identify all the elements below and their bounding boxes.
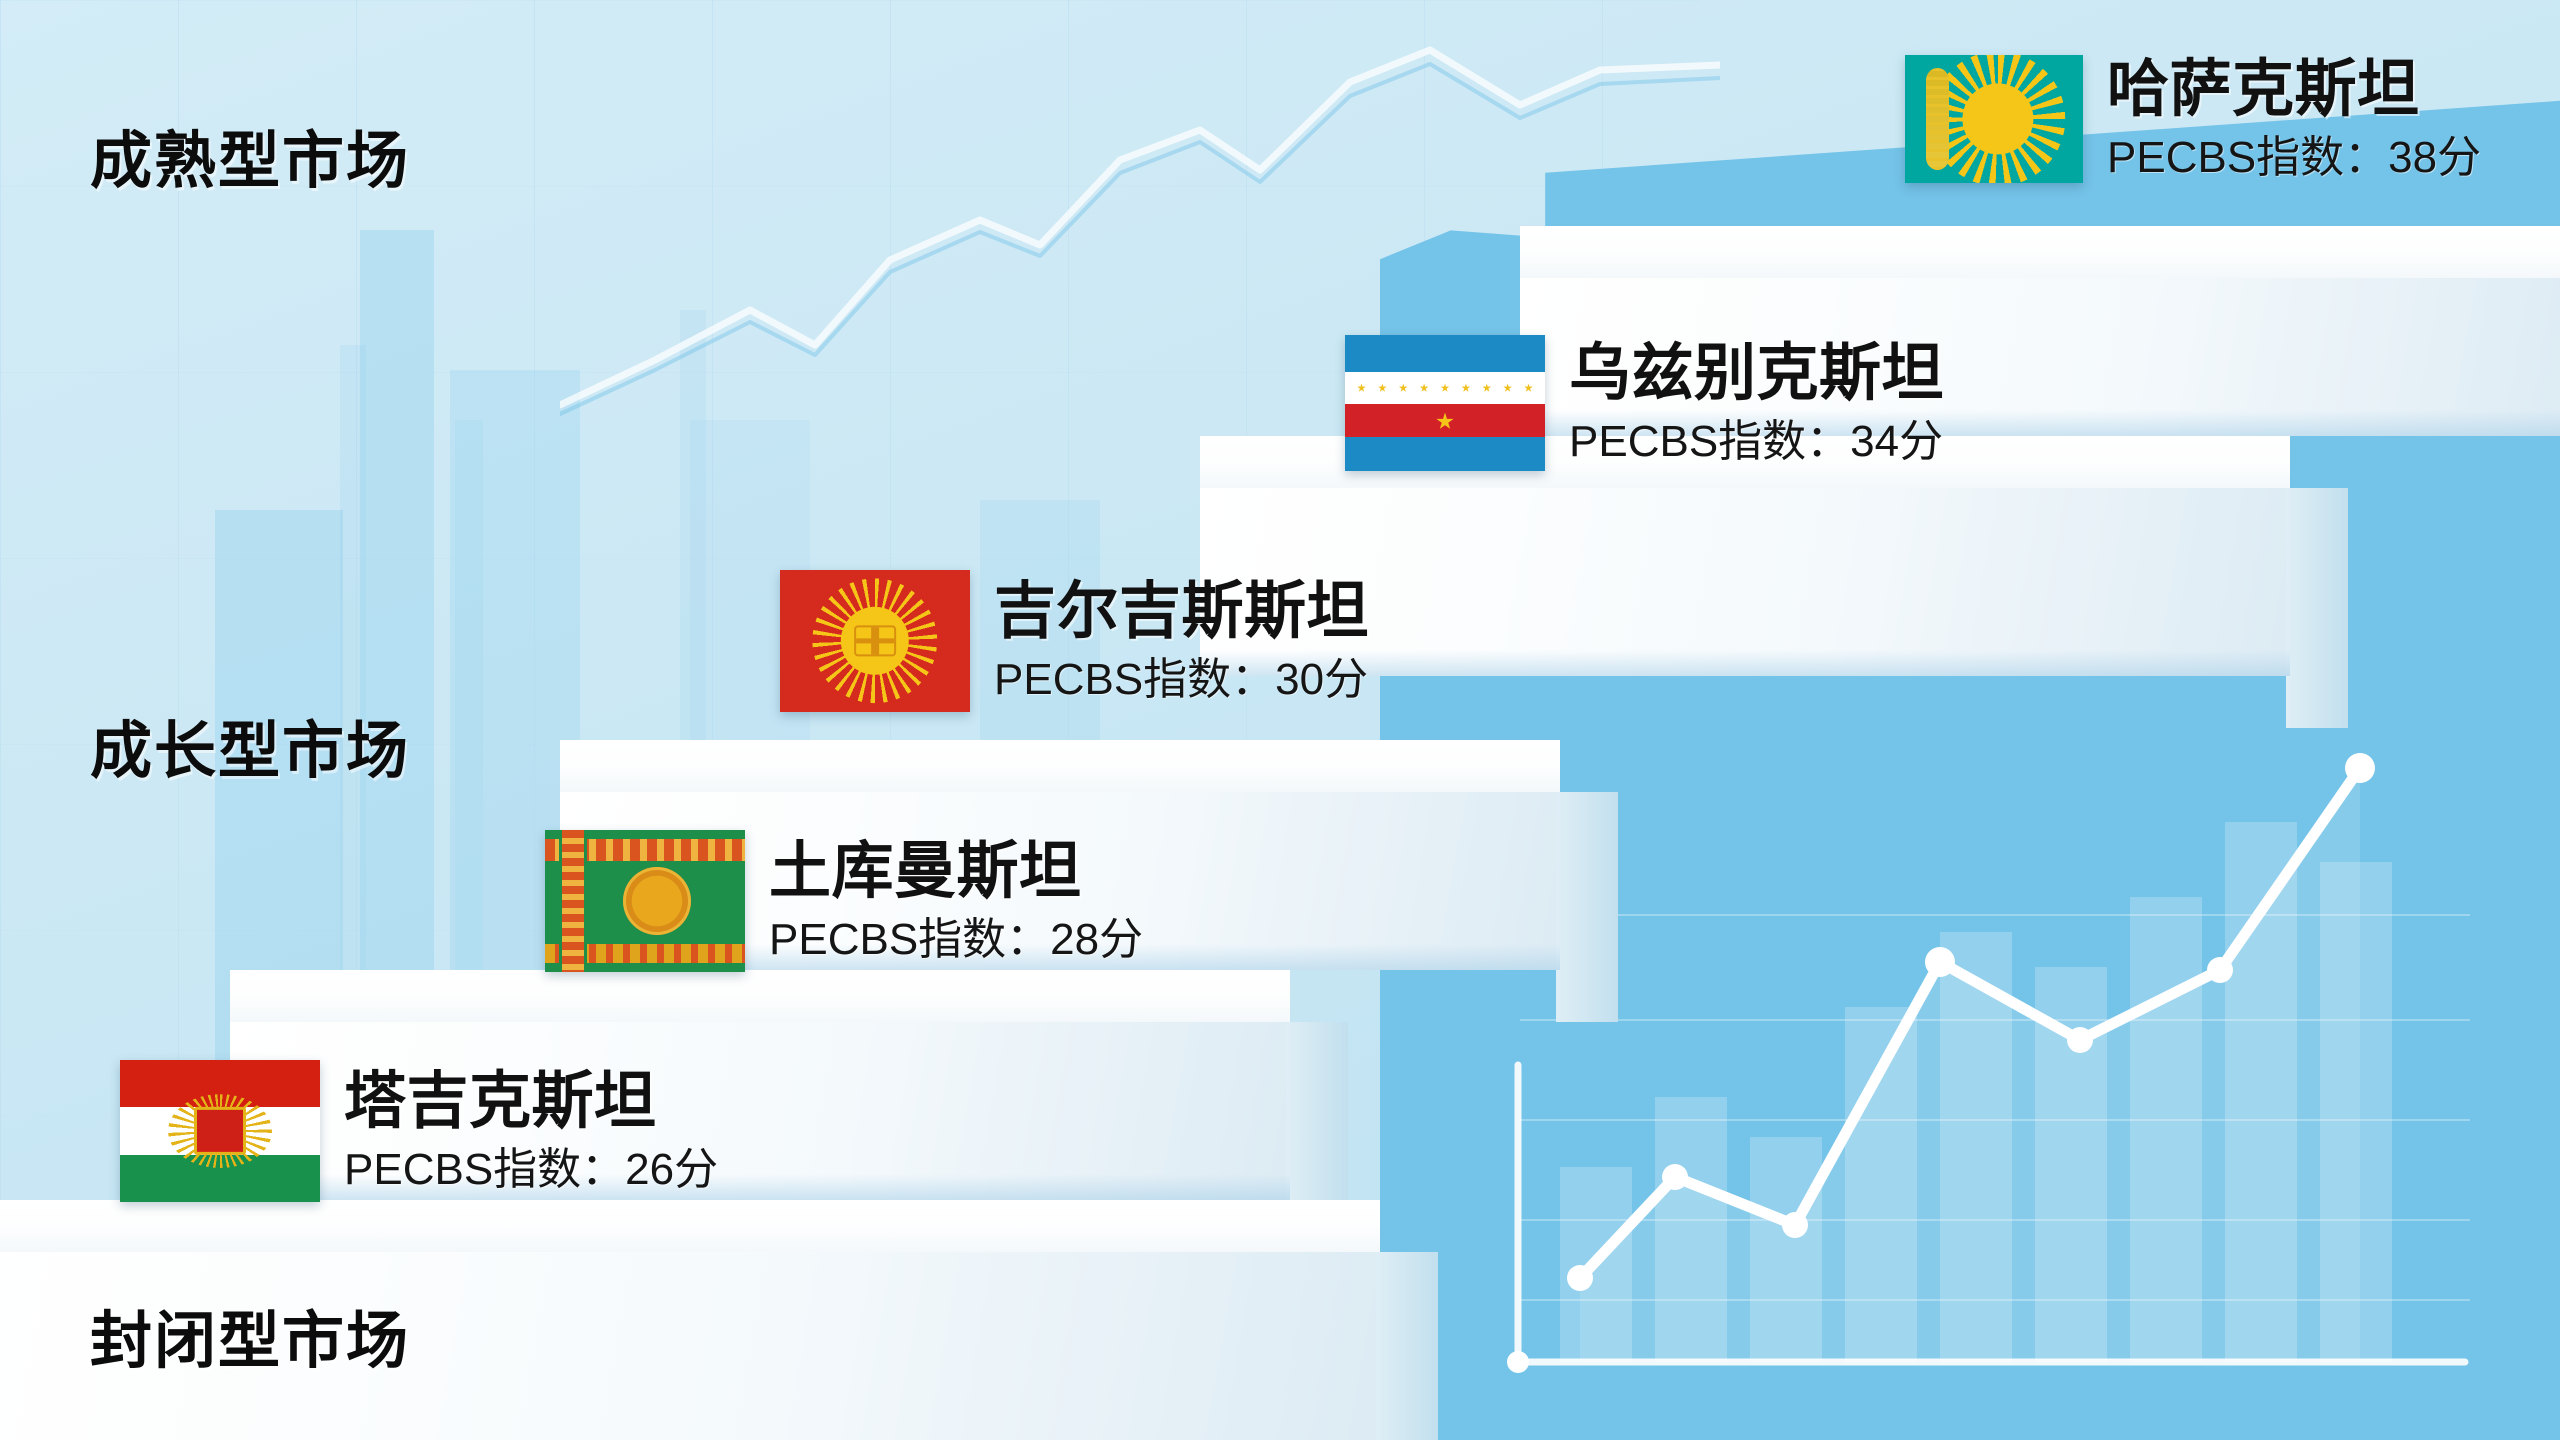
zone-label-growth: 成长型市场 xyxy=(90,700,410,790)
country-label-block: 哈萨克斯坦 PECBS指数：38分 xyxy=(2107,57,2481,181)
step-side-face xyxy=(1556,792,1618,1022)
kyrgyzstan-flag-icon xyxy=(780,570,970,712)
turkmenistan-flag-icon xyxy=(545,830,745,972)
country-entry-turkmenistan[interactable]: 土库曼斯坦 PECBS指数：28分 xyxy=(545,830,1143,972)
kazakhstan-flag-icon xyxy=(1905,55,2083,183)
country-entry-uzbekistan[interactable]: 乌兹别克斯坦 PECBS指数：34分 xyxy=(1345,335,1944,471)
step-top-surface xyxy=(560,740,1560,798)
zone-label-mature: 成熟型市场 xyxy=(90,110,410,200)
country-name: 塔吉克斯坦 xyxy=(344,1069,718,1136)
tajikistan-flag-icon xyxy=(120,1060,320,1202)
country-score: PECBS指数：28分 xyxy=(769,916,1143,964)
step-side-face xyxy=(1376,1252,1438,1440)
step-top-surface xyxy=(230,970,1290,1028)
country-label-block: 塔吉克斯坦 PECBS指数：26分 xyxy=(344,1069,718,1193)
country-name: 土库曼斯坦 xyxy=(769,839,1143,906)
step-top-surface xyxy=(0,1200,1380,1258)
country-entry-tajikistan[interactable]: 塔吉克斯坦 PECBS指数：26分 xyxy=(120,1060,718,1202)
infographic-canvas: 哈萨克斯坦 PECBS指数：38分 乌兹别克斯坦 PECBS指数：34分 吉尔吉… xyxy=(0,0,2560,1440)
country-label-block: 乌兹别克斯坦 PECBS指数：34分 xyxy=(1569,341,1944,465)
country-score: PECBS指数：38分 xyxy=(2107,134,2481,182)
step-top-surface xyxy=(1520,226,2560,284)
country-score: PECBS指数：26分 xyxy=(344,1146,718,1194)
zone-label-closed: 封闭型市场 xyxy=(90,1290,410,1380)
country-name: 吉尔吉斯斯坦 xyxy=(994,579,1369,646)
country-score: PECBS指数：34分 xyxy=(1569,418,1944,466)
country-name: 哈萨克斯坦 xyxy=(2107,57,2481,124)
country-label-block: 吉尔吉斯斯坦 PECBS指数：30分 xyxy=(994,579,1369,703)
country-score: PECBS指数：30分 xyxy=(994,656,1369,704)
country-label-block: 土库曼斯坦 PECBS指数：28分 xyxy=(769,839,1143,963)
country-entry-kazakhstan[interactable]: 哈萨克斯坦 PECBS指数：38分 xyxy=(1905,55,2481,183)
step-side-face xyxy=(2286,488,2348,728)
country-entry-kyrgyzstan[interactable]: 吉尔吉斯斯坦 PECBS指数：30分 xyxy=(780,570,1369,712)
uzbekistan-flag-icon xyxy=(1345,335,1545,471)
country-name: 乌兹别克斯坦 xyxy=(1569,341,1944,408)
